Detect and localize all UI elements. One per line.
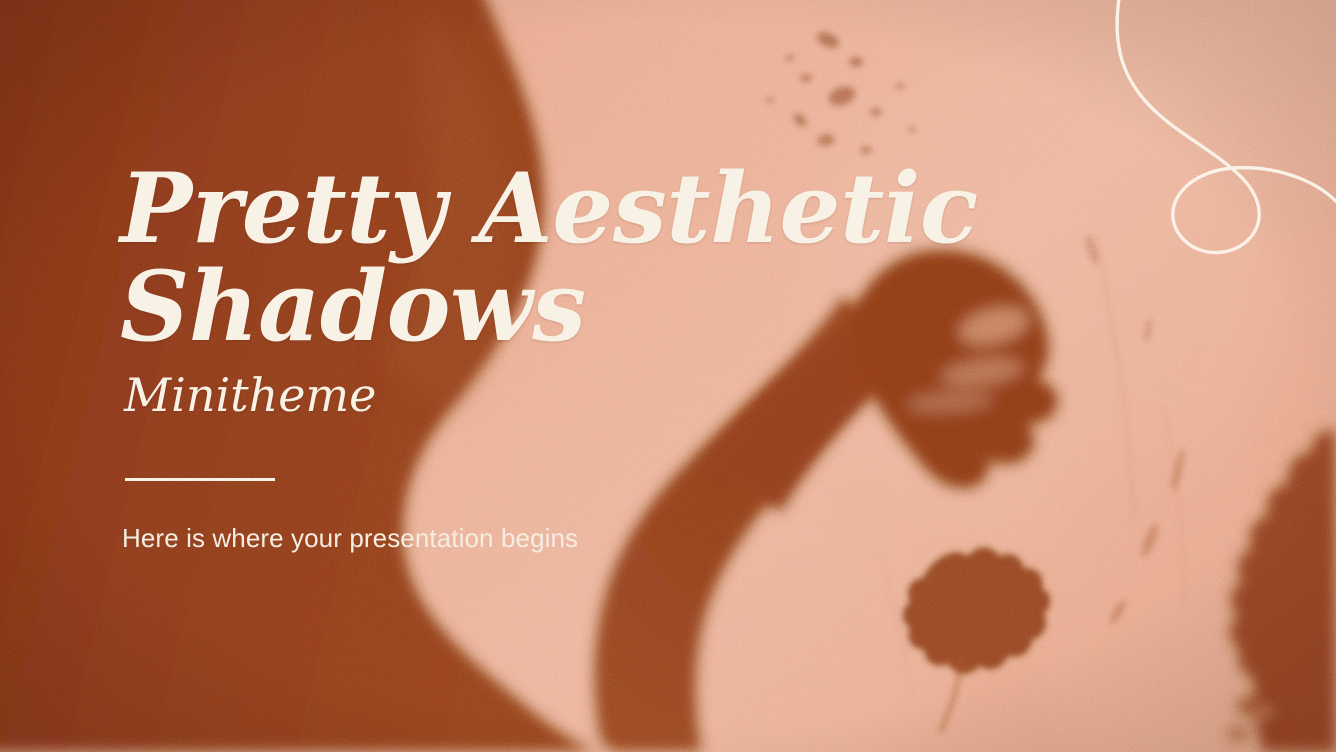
subtitle: Minitheme — [124, 370, 1000, 421]
presentation-slide: Pretty Aesthetic Shadows Minitheme Here … — [0, 0, 1336, 752]
title-line-2: Shadows — [120, 258, 1000, 356]
divider-rule — [125, 478, 275, 481]
slide-text-block: Pretty Aesthetic Shadows Minitheme Here … — [120, 160, 1000, 555]
tagline: Here is where your presentation begins — [122, 523, 1000, 554]
title-line-1: Pretty Aesthetic — [120, 152, 978, 265]
page-title: Pretty Aesthetic Shadows — [120, 160, 1000, 356]
